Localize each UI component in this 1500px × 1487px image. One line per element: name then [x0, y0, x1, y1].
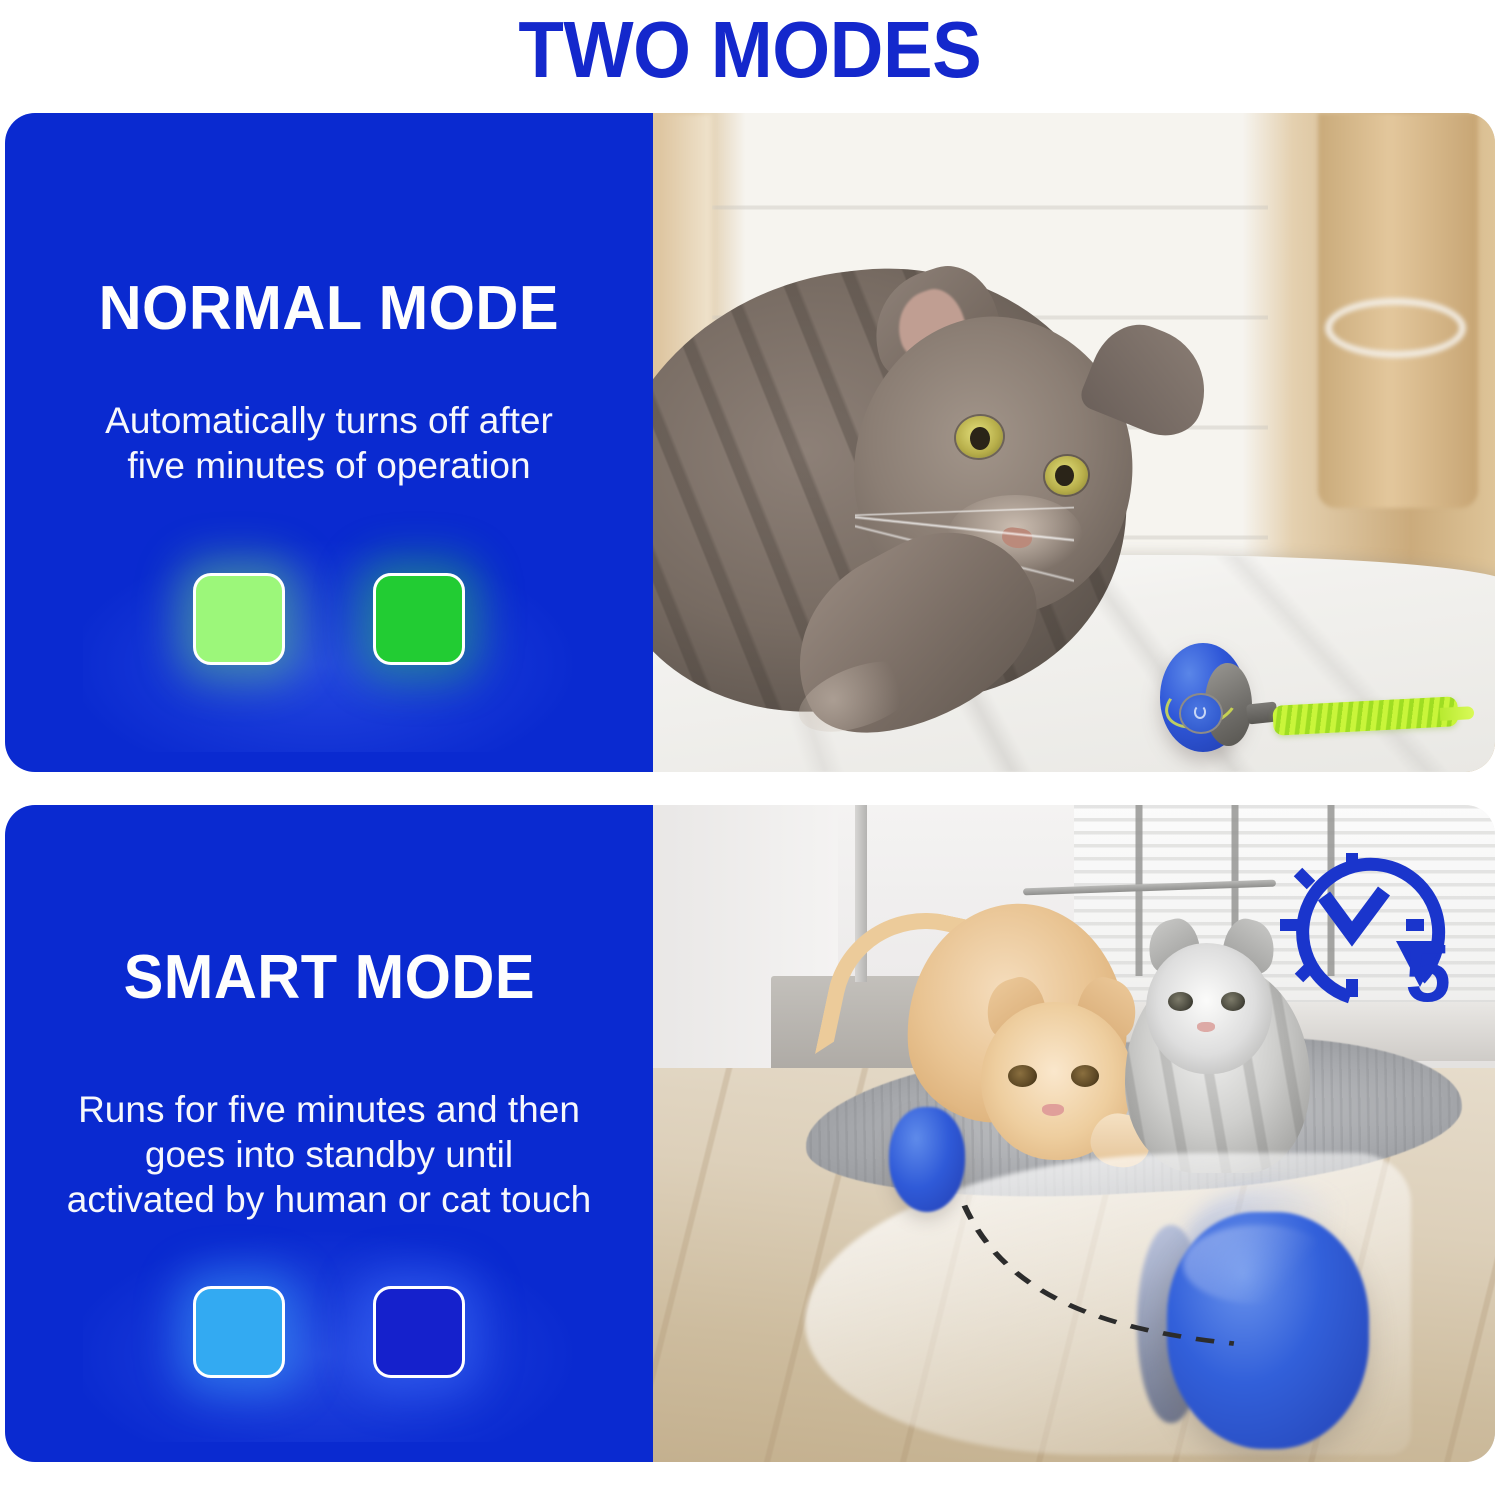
photo-grey-tabby-cat-with-blue-ball-toy — [653, 113, 1495, 772]
toy-ball-near-kitten — [889, 1107, 965, 1212]
page-title-text: TWO MODES — [519, 10, 982, 90]
mode-card-smart: SMART MODE Runs for five minutes and the… — [5, 805, 1495, 1462]
grey-kitten-eye-left — [1168, 992, 1192, 1011]
grey-kitten-eye-right — [1221, 992, 1245, 1011]
mode-description-normal: Automatically turns off after five minut… — [105, 398, 553, 488]
mode-card-normal: NORMAL MODE Automatically turns off afte… — [5, 113, 1495, 772]
mode-panel-normal: NORMAL MODE Automatically turns off afte… — [5, 113, 653, 772]
cat-pupil-left — [970, 427, 990, 451]
orange-kitten-eye-right — [1071, 1065, 1100, 1087]
swatch-row-normal — [193, 573, 465, 665]
mode-description-smart: Runs for five minutes and then goes into… — [67, 1087, 591, 1222]
page-title: TWO MODES — [0, 0, 1500, 100]
swatch-dark-blue — [373, 1286, 465, 1378]
five-minute-timer-clock-icon: 5 — [1268, 841, 1478, 1026]
grey-kitten-nose — [1197, 1022, 1216, 1032]
swatch-row-smart — [193, 1286, 465, 1378]
toy-path-dashed-line — [956, 1199, 1326, 1396]
photo-orange-kitten-chasing-blue-ball-toy: 5 — [653, 805, 1495, 1462]
swatch-light-blue — [193, 1286, 285, 1378]
mode-heading-normal: NORMAL MODE — [99, 278, 560, 340]
grey-kitten-head — [1146, 943, 1272, 1074]
timer-minutes-value: 5 — [1405, 928, 1451, 1019]
swatch-bright-green — [373, 573, 465, 665]
orange-kitten-nose — [1042, 1104, 1064, 1116]
cat-tree-ring — [1325, 298, 1465, 358]
orange-kitten-eye-left — [1008, 1065, 1037, 1087]
mode-heading-smart: SMART MODE — [123, 947, 535, 1009]
swatch-light-green — [193, 573, 285, 665]
mode-panel-smart: SMART MODE Runs for five minutes and the… — [5, 805, 653, 1462]
clock-hands — [1324, 891, 1384, 934]
green-chenille-wand-tip — [1440, 707, 1474, 722]
